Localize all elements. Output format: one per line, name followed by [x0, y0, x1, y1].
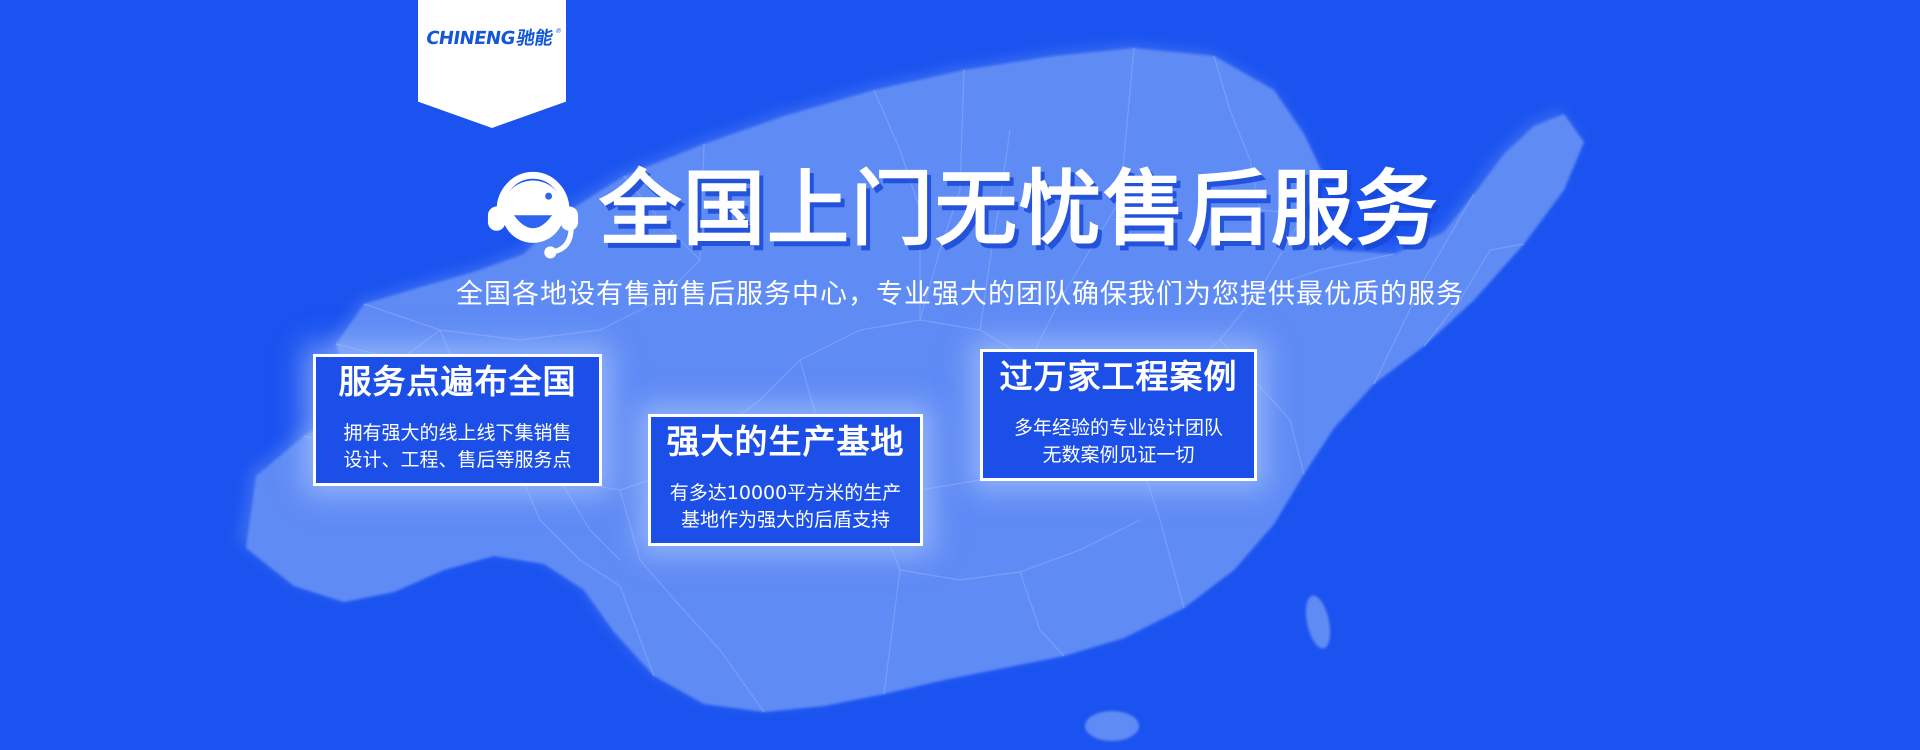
feature-card-project-cases[interactable]: 过万家工程案例 多年经验的专业设计团队 无数案例见证一切	[980, 349, 1257, 481]
feature-card-title: 服务点遍布全国	[339, 363, 577, 401]
brand-logo: CHINENG 驰能 ®	[424, 30, 560, 48]
feature-card-body-line: 多年经验的专业设计团队	[1014, 415, 1223, 442]
feature-card-body-line: 拥有强大的线上线下集销售	[343, 420, 571, 447]
registered-trademark-icon: ®	[555, 28, 561, 35]
feature-card-body-line: 设计、工程、售后等服务点	[343, 447, 571, 474]
brand-logo-ribbon[interactable]: CHINENG 驰能 ®	[418, 0, 566, 128]
page-subtitle: 全国各地设有售前售后服务中心，专业强大的团队确保我们为您提供最优质的服务	[0, 272, 1920, 311]
feature-card-title: 强大的生产基地	[667, 423, 905, 461]
feature-card-service-network[interactable]: 服务点遍布全国 拥有强大的线上线下集销售 设计、工程、售后等服务点	[313, 354, 602, 486]
feature-card-body: 有多达10000平方米的生产 基地作为强大的后盾支持	[670, 480, 901, 534]
hero-banner: CHINENG 驰能 ® 全国上门无忧售后服务 全国各地设有售前	[0, 0, 1920, 750]
headline-row: 全国上门无忧售后服务	[0, 158, 1920, 262]
feature-card-body-line: 无数案例见证一切	[1014, 442, 1223, 469]
china-map-background	[0, 0, 1920, 750]
feature-card-body: 多年经验的专业设计团队 无数案例见证一切	[1014, 415, 1223, 469]
feature-card-body: 拥有强大的线上线下集销售 设计、工程、售后等服务点	[343, 420, 571, 474]
feature-card-production-base[interactable]: 强大的生产基地 有多达10000平方米的生产 基地作为强大的后盾支持	[648, 414, 923, 546]
page-title: 全国上门无忧售后服务	[599, 169, 1439, 251]
brand-logo-cjk: 驰能	[515, 30, 554, 48]
feature-card-body-line: 基地作为强大的后盾支持	[670, 507, 901, 534]
smiling-face-headset-icon	[481, 158, 585, 262]
feature-card-body-line: 有多达10000平方米的生产	[670, 480, 901, 507]
feature-card-title: 过万家工程案例	[1000, 358, 1238, 396]
brand-logo-latin: CHINENG	[424, 30, 516, 48]
